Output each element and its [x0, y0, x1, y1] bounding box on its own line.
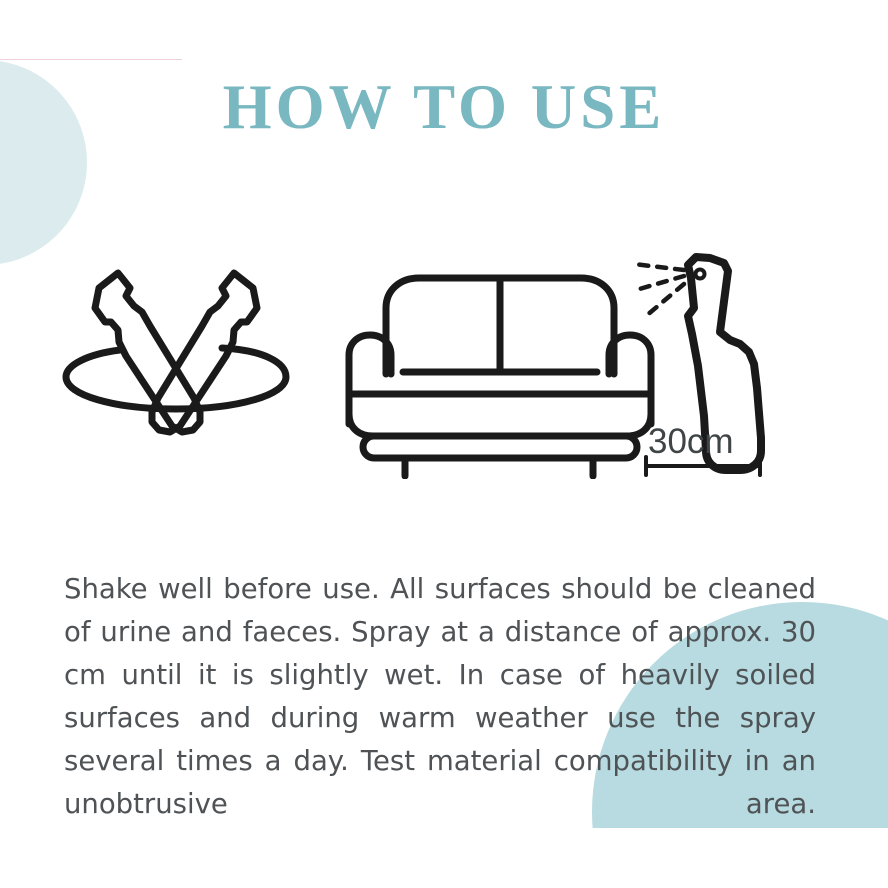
sofa-icon	[335, 264, 665, 479]
illustration-strip: 30cm	[0, 238, 888, 503]
measurement-label: 30cm	[648, 422, 734, 461]
instructions-paragraph: Shake well before use. All surfaces shou…	[64, 568, 816, 869]
how-to-use-infographic: HOW TO USE	[0, 0, 888, 888]
decorative-rule-pink	[0, 59, 182, 60]
spray-bottle-icon: 30cm	[618, 238, 868, 503]
bottom-margin	[0, 828, 888, 888]
page-title: HOW TO USE	[0, 76, 888, 139]
shaking-bottles-icon	[62, 246, 292, 471]
